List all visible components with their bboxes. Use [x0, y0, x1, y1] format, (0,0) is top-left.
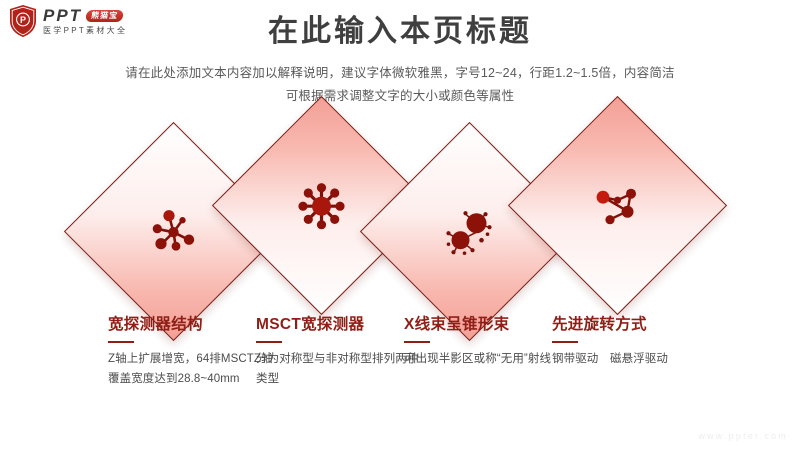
- feature-heading-2: MSCT宽探测器: [256, 316, 426, 335]
- feature-body-2: 分为对称型与非对称型排列两种类型: [256, 350, 426, 390]
- feature-heading-1: 宽探测器结构: [108, 316, 278, 335]
- virus-radial-icon: [291, 175, 353, 237]
- page-subtitle: 请在此处添加文本内容加以解释说明，建议字体微软雅黑，字号12~24，行距1.2~…: [0, 62, 800, 108]
- feature-body-3: 可出现半影区或称“无用”射线: [404, 350, 574, 370]
- diamond-row: [0, 120, 800, 320]
- page-subtitle-line-2: 可根据需求调整文字的大小或颜色等属性: [0, 85, 800, 108]
- molecule-branch-icon: [143, 201, 205, 263]
- heading-underline-1: [108, 341, 134, 344]
- feature-column-4: 先进旋转方式 钢带驱动 磁悬浮驱动: [552, 316, 722, 370]
- site-watermark: www.ppter.com: [698, 431, 788, 441]
- feature-heading-4: 先进旋转方式: [552, 316, 722, 335]
- page-subtitle-line-1: 请在此处添加文本内容加以解释说明，建议字体微软雅黑，字号12~24，行距1.2~…: [0, 62, 800, 85]
- page-title: 在此输入本页标题: [0, 14, 800, 50]
- feature-column-3: X线束呈锥形束 可出现半影区或称“无用”射线: [404, 316, 574, 370]
- feature-column-2: MSCT宽探测器 分为对称型与非对称型排列两种类型: [256, 316, 426, 390]
- molecule-network-icon: [587, 175, 649, 237]
- heading-underline-4: [552, 341, 578, 344]
- feature-heading-3: X线束呈锥形束: [404, 316, 574, 335]
- feature-columns: 宽探测器结构 Z轴上扩展增宽，64排MSCTZ轴覆盖宽度达到28.8~40mm …: [0, 316, 800, 426]
- heading-underline-2: [256, 341, 282, 344]
- heading-underline-3: [404, 341, 430, 344]
- feature-column-1: 宽探测器结构 Z轴上扩展增宽，64排MSCTZ轴覆盖宽度达到28.8~40mm: [108, 316, 278, 390]
- feature-body-4: 钢带驱动 磁悬浮驱动: [552, 350, 722, 370]
- diamond-card-4[interactable]: [508, 96, 727, 315]
- feature-body-1: Z轴上扩展增宽，64排MSCTZ轴覆盖宽度达到28.8~40mm: [108, 350, 278, 390]
- cell-cluster-icon: [439, 201, 501, 263]
